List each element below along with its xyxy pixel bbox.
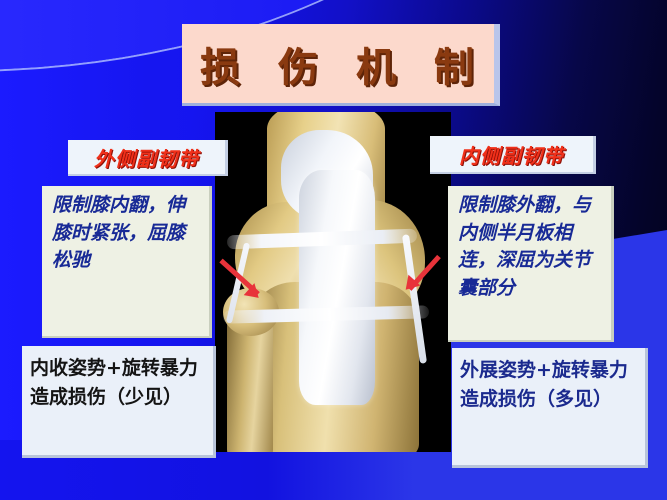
lateral-ligament-label-box: 外侧副韧带 — [68, 140, 228, 176]
presentation-slide: 损 伤 机 制 外侧副韧带 限制膝内翻，伸膝时紧张，屈膝松驰 内收姿势+旋转暴力… — [0, 0, 667, 500]
lateral-ligament-description: 限制膝内翻，伸膝时紧张，屈膝松驰 — [52, 192, 201, 275]
patellar-ligament — [299, 170, 375, 405]
lateral-ligament-description-box: 限制膝内翻，伸膝时紧张，屈膝松驰 — [42, 186, 212, 338]
slide-title-box: 损 伤 机 制 — [182, 24, 500, 106]
page-title: 损 伤 机 制 — [190, 35, 486, 93]
medial-injury-mechanism: 外展姿势+旋转暴力造成损伤（多见） — [460, 356, 639, 413]
medial-injury-mechanism-box: 外展姿势+旋转暴力造成损伤（多见） — [452, 348, 648, 468]
medial-ligament-label: 内侧副韧带 — [459, 140, 564, 169]
lateral-injury-mechanism: 内收姿势+旋转暴力造成损伤（少见） — [30, 354, 207, 411]
medial-ligament-description-box: 限制膝外翻，与内侧半月板相连，深屈为关节囊部分 — [448, 186, 614, 342]
medial-ligament-label-box: 内侧副韧带 — [430, 136, 596, 174]
knee-anatomy-photo — [215, 112, 451, 452]
lateral-injury-mechanism-box: 内收姿势+旋转暴力造成损伤（少见） — [22, 346, 216, 458]
lateral-ligament-label: 外侧副韧带 — [94, 143, 199, 172]
medial-ligament-description: 限制膝外翻，与内侧半月板相连，深屈为关节囊部分 — [458, 192, 603, 303]
